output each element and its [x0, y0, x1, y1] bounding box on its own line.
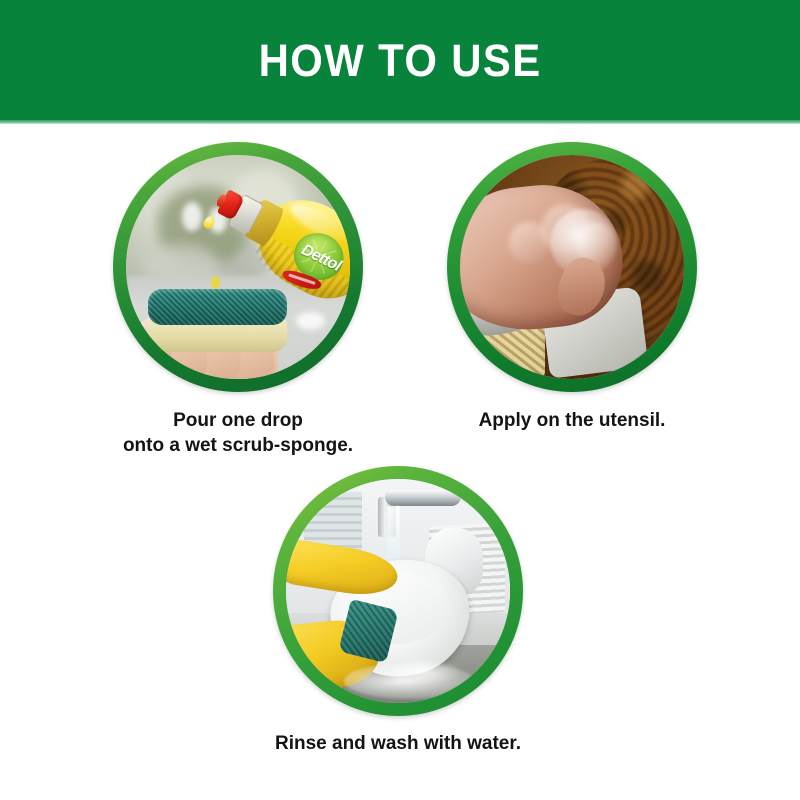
- step-item-1: Dettol Pour one drop onto a wet scrub-sp…: [108, 142, 368, 458]
- step-item-2: Apply on the utensil.: [442, 142, 702, 433]
- step-3-photo-frame: [273, 466, 523, 716]
- step-1-caption: Pour one drop onto a wet scrub-sponge.: [108, 408, 368, 458]
- header-band: HOW TO USE: [0, 0, 800, 120]
- step-2-photo-frame: [447, 142, 697, 392]
- steps-container: Dettol Pour one drop onto a wet scrub-sp…: [0, 120, 800, 800]
- step-2-caption: Apply on the utensil.: [442, 408, 702, 433]
- water-splash: [385, 658, 461, 685]
- knuckle-highlight: [509, 222, 549, 262]
- faucet-spout: [385, 490, 461, 506]
- soap-droplet: [211, 276, 220, 289]
- step-1-photo: Dettol: [126, 155, 350, 379]
- step-item-3: Rinse and wash with water.: [268, 466, 528, 756]
- step-1-photo-frame: Dettol: [113, 142, 363, 392]
- step-3-photo: [286, 479, 510, 703]
- step-3-caption: Rinse and wash with water.: [268, 731, 528, 756]
- step-2-photo: [460, 155, 684, 379]
- page-title: HOW TO USE: [259, 38, 542, 83]
